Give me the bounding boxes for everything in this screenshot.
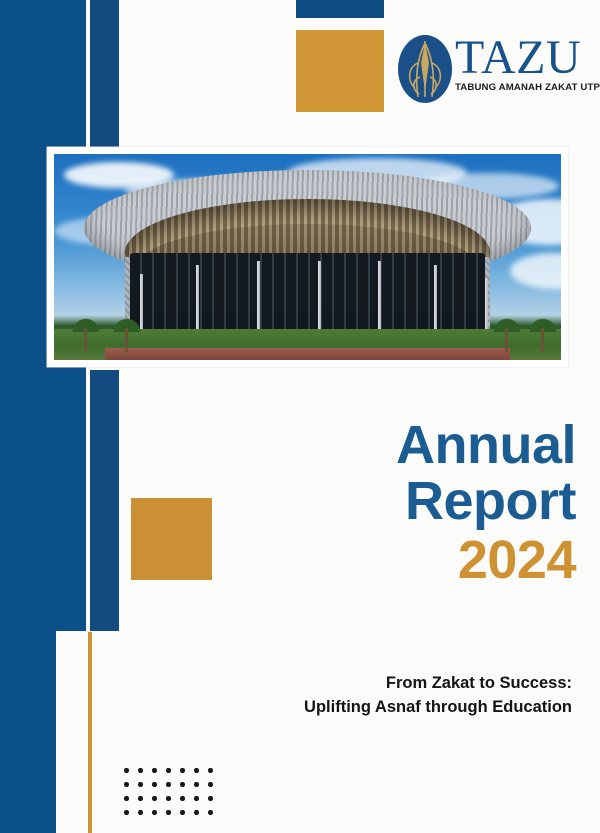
grid-dot	[124, 782, 129, 787]
plaza-walkway	[105, 348, 511, 360]
tagline-line-2: Uplifting Asnaf through Education	[142, 696, 572, 720]
report-tagline: From Zakat to Success: Uplifting Asnaf t…	[142, 672, 572, 720]
grid-dot	[138, 810, 143, 815]
grid-dot	[194, 810, 199, 815]
grid-dot	[180, 810, 185, 815]
grid-dot	[180, 782, 185, 787]
grid-dot	[194, 768, 199, 773]
tazu-emblem-icon	[396, 33, 454, 105]
grid-dot	[138, 796, 143, 801]
tagline-line-1: From Zakat to Success:	[142, 672, 572, 696]
grid-dot	[208, 768, 213, 773]
left-navy-accent-bar-mid	[90, 370, 119, 631]
grid-dot	[180, 768, 185, 773]
title-line-2: Report	[156, 474, 576, 530]
grid-dot	[138, 782, 143, 787]
title-year: 2024	[156, 531, 576, 590]
grid-dot	[124, 768, 129, 773]
grid-dot	[208, 782, 213, 787]
grid-dot	[166, 796, 171, 801]
grid-dot	[208, 796, 213, 801]
grid-dot	[194, 796, 199, 801]
gold-square-top	[296, 30, 384, 112]
palm-tree	[526, 312, 560, 352]
grid-dot	[166, 810, 171, 815]
grid-dot	[152, 796, 157, 801]
grid-dot	[194, 782, 199, 787]
title-line-1: Annual	[156, 418, 576, 474]
logo-wordmark: TAZU	[455, 35, 600, 81]
grid-dot	[138, 768, 143, 773]
palm-tree	[110, 312, 144, 352]
dot-grid-decoration	[124, 768, 222, 824]
annual-report-cover: TAZU TABUNG AMANAH ZAKAT UTP	[0, 0, 600, 833]
logo-tagline: TABUNG AMANAH ZAKAT UTP	[455, 82, 600, 93]
grid-dot	[208, 810, 213, 815]
grid-dot	[152, 782, 157, 787]
chancellor-hall-photo	[54, 154, 561, 360]
grid-dot	[180, 796, 185, 801]
report-title: Annual Report 2024	[156, 418, 576, 591]
left-navy-panel-lower	[0, 631, 56, 833]
gold-vertical-rule	[88, 632, 92, 833]
palm-tree	[490, 312, 524, 352]
left-navy-panel-mid	[0, 370, 86, 631]
grid-dot	[166, 768, 171, 773]
chancellor-hall-photo-frame	[47, 147, 568, 367]
grid-dot	[152, 810, 157, 815]
navy-tab-top	[296, 0, 384, 18]
tazu-logo: TAZU TABUNG AMANAH ZAKAT UTP	[396, 33, 582, 109]
grid-dot	[124, 810, 129, 815]
grid-dot	[166, 782, 171, 787]
grid-dot	[152, 768, 157, 773]
palm-tree	[69, 312, 103, 352]
grid-dot	[124, 796, 129, 801]
left-navy-accent-bar-top	[90, 0, 119, 148]
